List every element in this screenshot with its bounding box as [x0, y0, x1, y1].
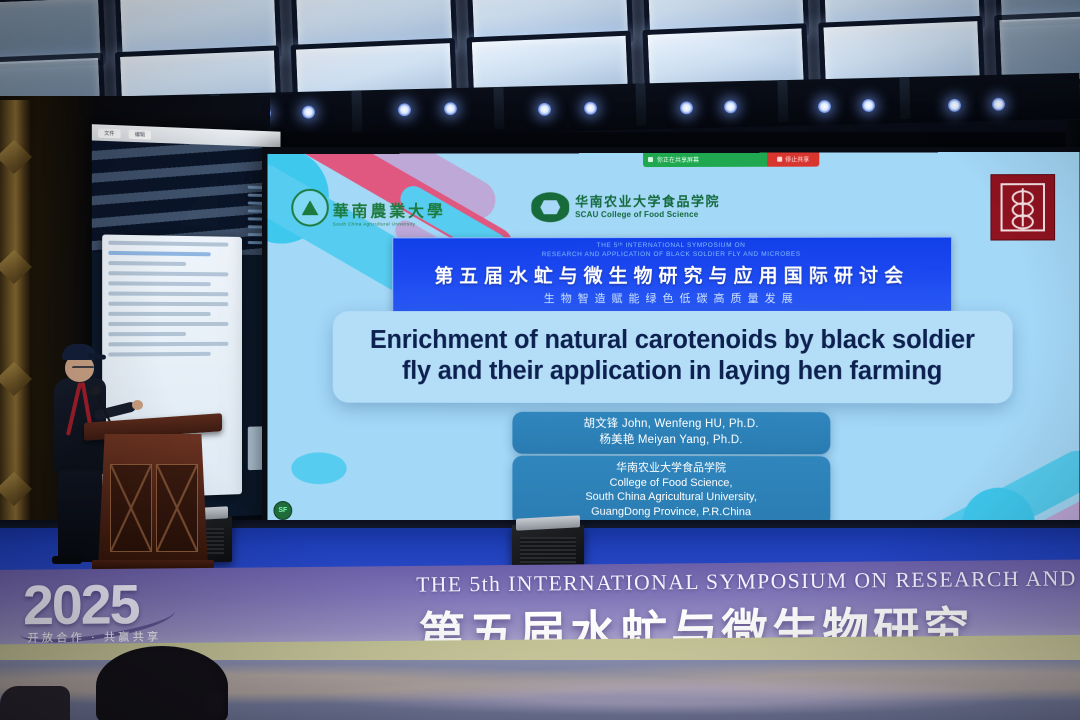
spotlight [992, 98, 1005, 111]
side-screen-tab[interactable]: 编辑 [129, 129, 151, 139]
symposium-banner: THE 5ᵗʰ INTERNATIONAL SYMPOSIUM ON RESEA… [392, 237, 952, 313]
author-line-2: 杨美艳 Meiyan Yang, Ph.D. [512, 432, 830, 448]
college-name-en: SCAU College of Food Science [575, 210, 720, 219]
pillar-diamond-ornament [0, 250, 32, 284]
doc-text-line [108, 261, 186, 266]
stop-icon [777, 157, 782, 162]
affiliation-line-1: 华南农业大学食品学院 [512, 461, 830, 476]
doc-text-line [108, 251, 211, 256]
presenter-shoe [52, 556, 82, 564]
symposium-subtitle-cn: 生物智造赋能绿色低碳高质量发展 [393, 289, 951, 305]
truss-bar [899, 77, 910, 119]
presenter-cap [62, 344, 96, 360]
stop-sharing-label: 停止共享 [785, 155, 809, 164]
side-screen-tab[interactable]: 文件 [98, 128, 121, 138]
affiliation-line-2: College of Food Science, [512, 475, 830, 490]
podium-body [98, 434, 208, 568]
conference-photo: 文件 编辑 [0, 0, 1080, 720]
doc-text-line [108, 271, 228, 276]
spotlight [862, 99, 875, 112]
main-led-screen: 你正在共享屏幕 停止共享 華南農業大學 South China Agricult… [262, 147, 1080, 535]
scau-seal-icon [291, 189, 329, 227]
doc-text-line [108, 342, 228, 347]
spotlight [948, 99, 961, 112]
doc-text-line [108, 241, 228, 247]
red-emblem-icon [1001, 183, 1045, 231]
scau-university-logo: 華南農業大學 South China Agricultural Universi… [291, 189, 446, 227]
presenter-glasses-icon [72, 366, 94, 373]
slide-title-box: Enrichment of natural carotenoids by bla… [333, 311, 1013, 404]
college-of-food-science-logo: 华南农业大学食品学院 SCAU College of Food Science [531, 192, 720, 222]
spotlight [724, 100, 737, 113]
symposium-title-cn: 第五届水虻与微生物研究与应用国际研讨会 [393, 260, 951, 288]
spotlight [302, 105, 315, 118]
decorative-pillar [0, 100, 30, 570]
sharing-status: 你正在共享屏幕 [643, 152, 767, 167]
speaker-grille [520, 537, 576, 564]
cofs-hexagon-icon [540, 200, 560, 214]
presenter-hand [132, 400, 143, 410]
truss-bar [351, 90, 362, 132]
presentation-slide: 你正在共享屏幕 停止共享 華南農業大學 South China Agricult… [268, 152, 1080, 526]
symposium-english-line2: RESEARCH AND APPLICATION OF BLACK SOLDIE… [393, 250, 951, 259]
emblem-ring [1012, 214, 1034, 229]
truss-bar [777, 80, 788, 122]
audience-shoulder [0, 686, 70, 720]
spotlight [398, 103, 411, 116]
spotlight [680, 101, 693, 114]
scau-name-en: South China Agricultural University [333, 222, 446, 227]
podium [92, 418, 214, 568]
screen-share-icon [648, 157, 653, 162]
pillar-diamond-ornament [0, 362, 32, 396]
decor-oval-cyan [291, 452, 346, 484]
red-institution-logo [990, 174, 1055, 240]
screen-share-indicator: 你正在共享屏幕 停止共享 [643, 152, 819, 167]
spotlight [444, 102, 457, 115]
stop-sharing-button[interactable]: 停止共享 [767, 152, 819, 167]
slide-authors-box: 胡文锋 John, Wenfeng HU, Ph.D. 杨美艳 Meiyan Y… [512, 412, 830, 454]
college-name-cn: 华南农业大学食品学院 [575, 195, 720, 210]
truss-bar [493, 87, 504, 129]
pillar-diamond-ornament [0, 140, 32, 174]
doc-text-line [108, 291, 228, 296]
scau-name-cn: 華南農業大學 [333, 204, 446, 220]
podium-panel [156, 464, 198, 552]
scau-roof-icon [302, 200, 319, 215]
author-line-1: 胡文锋 John, Wenfeng HU, Ph.D. [512, 417, 830, 433]
slide-corner-badge-icon: SF [273, 501, 292, 520]
podium-panel [110, 464, 152, 552]
affiliation-line-3: South China Agricultural University, [512, 490, 830, 505]
doc-text-line [108, 281, 211, 286]
spotlight [538, 103, 551, 116]
doc-text-line [108, 332, 186, 336]
spotlight [584, 102, 597, 115]
pillar-diamond-ornament [0, 472, 32, 506]
sharing-status-label: 你正在共享屏幕 [657, 155, 699, 164]
slide-title: Enrichment of natural carotenoids by bla… [353, 325, 993, 388]
doc-text-line [108, 302, 228, 306]
slide-logo-row: 華南農業大學 South China Agricultural Universi… [291, 182, 1055, 232]
cofs-emblem-icon [531, 192, 569, 222]
spotlight [818, 100, 831, 113]
doc-text-line [108, 322, 228, 326]
truss-bar [635, 83, 646, 125]
doc-text-line [108, 312, 211, 316]
audience-member-ear [206, 690, 224, 716]
